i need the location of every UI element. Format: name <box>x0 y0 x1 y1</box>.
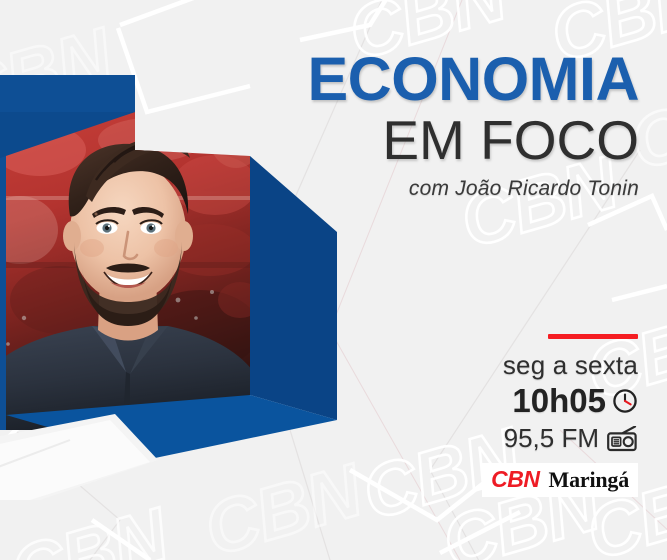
schedule-info-block: seg a sexta 10h05 95,5 FM <box>338 334 638 497</box>
radio-icon <box>606 426 638 452</box>
host-credit: com João Ricardo Tonin <box>219 177 639 201</box>
title-secondary: EM FOCO <box>219 112 639 170</box>
city-wordmark: Maringá <box>549 467 629 493</box>
broadcast-days: seg a sexta <box>338 350 638 381</box>
cbn-wordmark: CBN <box>491 466 539 493</box>
clock-icon <box>612 388 638 414</box>
broadcast-promo-card: CBN <box>0 0 667 560</box>
title-block: ECONOMIA EM FOCO com João Ricardo Tonin <box>219 50 639 201</box>
broadcast-time-row: 10h05 <box>338 382 638 420</box>
red-rule-divider <box>548 334 638 339</box>
title-primary: ECONOMIA <box>219 50 639 110</box>
cbn-maringa-logo: CBN Maringá <box>482 463 638 497</box>
broadcast-frequency-row: 95,5 FM <box>338 423 638 454</box>
broadcast-frequency: 95,5 FM <box>504 423 599 454</box>
broadcast-time: 10h05 <box>512 382 606 420</box>
cube-left-strip <box>0 112 6 430</box>
